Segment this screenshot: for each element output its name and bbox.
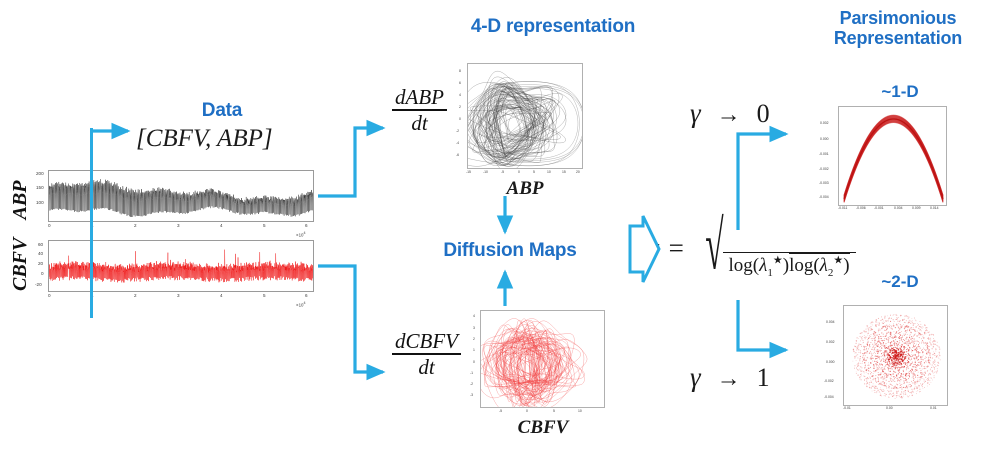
p1d-ytick-4: -0.002	[819, 168, 829, 171]
derivative-cbfv-label: dCBFV dt	[392, 330, 461, 379]
log-text-num: log	[729, 255, 753, 276]
cbfv-xtick-6: 6	[305, 294, 308, 299]
cbfvph-ytick-0: 0	[473, 361, 475, 364]
abp-phase-xlabel: ABP	[467, 178, 583, 200]
parsimonious-title-line1: Parsimonious	[818, 8, 978, 28]
p2d-ytick-3: 0.000	[826, 361, 835, 364]
panel-title-diffusion-maps: Diffusion Maps	[400, 240, 620, 261]
abpph-xtick-neg15: -15	[466, 171, 471, 174]
label-1d-text: ~1-D	[881, 82, 918, 101]
abp-xtick-5: 5	[263, 224, 266, 229]
arrow-one: →	[705, 366, 753, 392]
lambda-den-index: 2	[828, 267, 834, 279]
p1d-ytick-5: -0.003	[819, 182, 829, 185]
abpph-xtick-20: 20	[576, 171, 580, 174]
gamma-limit-zero: γ → 0	[690, 98, 770, 129]
abpph-xtick-15: 15	[562, 171, 566, 174]
abpph-ytick-0: 0	[459, 118, 461, 121]
radical-sign: √	[705, 211, 723, 280]
panel-title-data: Data	[162, 100, 282, 121]
abp-ytick-200: 200	[36, 172, 44, 177]
cbfv-ytick-40: 40	[38, 252, 43, 257]
arrow-to-2d-representation	[738, 300, 786, 350]
lambda-den-star: ★	[833, 255, 843, 267]
abpph-xtick-10: 10	[547, 171, 551, 174]
p1d-xtick-4: 0.004	[894, 207, 903, 210]
abpph-ytick-neg6: -6	[456, 154, 459, 157]
p2d-ytick-2: 0.002	[826, 341, 835, 344]
cbfvph-xtick-5: 5	[553, 410, 555, 413]
dcbfv-numerator: dCBFV	[392, 330, 461, 353]
p1d-ytick-2: 0.000	[820, 138, 829, 141]
gamma-symbol: γ	[648, 233, 659, 263]
dabp-numerator: dABP	[392, 86, 447, 109]
cbfv-ytick-0: 0	[41, 272, 44, 277]
dabp-denominator: dt	[392, 109, 447, 134]
panel-title-4d: 4-D representation	[418, 16, 688, 37]
abp-xtick-6: 6	[305, 224, 308, 229]
cbfv-ytick-neg20: -20	[35, 283, 42, 288]
p2d-xtick-1: -0.01	[843, 407, 851, 410]
p1d-xtick-6: 0.014	[930, 207, 939, 210]
abpph-ytick-neg2: -2	[456, 130, 459, 133]
label-2d-text: ~2-D	[881, 272, 918, 291]
abp-xtick-0: 0	[48, 224, 51, 229]
abp-timeseries-svg	[49, 171, 314, 222]
arrow-abp-to-derivative	[318, 128, 383, 196]
chart-parsimonious-1d	[838, 106, 947, 206]
cbfvph-xtick-10: 10	[578, 410, 582, 413]
abp-phase-svg	[468, 64, 583, 169]
abpph-xtick-neg5: -5	[501, 171, 504, 174]
log-numerator: log(λ1★)	[729, 255, 790, 276]
gamma-equation: γ = √log(λ1★)log(λ2★)	[648, 226, 856, 280]
sqrt-expression: √log(λ1★)log(λ2★)	[694, 226, 856, 280]
arrow-to-1d-representation	[738, 134, 786, 230]
gamma-symbol-zero: γ	[690, 98, 701, 128]
p2d-ytick-1: 0.004	[826, 321, 835, 324]
arrow-zero: →	[705, 102, 753, 128]
cbfv-x-exponent: ×104	[296, 301, 306, 307]
abpph-ytick-8: 8	[459, 70, 461, 73]
data-vector-text: [CBFV, ABP]	[136, 125, 273, 152]
cbfvph-ytick-1: 1	[473, 349, 475, 352]
p1d-xtick-2: -0.006	[856, 207, 866, 210]
derivative-abp-label: dABP dt	[392, 86, 447, 135]
abpph-ytick-neg4: -4	[456, 142, 459, 145]
p1d-xtick-1: -0.011	[838, 207, 847, 210]
limit-one-value: 1	[757, 363, 770, 392]
p2d-ytick-4: -0.002	[824, 380, 834, 383]
p2d-ytick-5: -0.004	[824, 396, 834, 399]
gamma-symbol-one: γ	[690, 362, 701, 392]
lambda-num-star: ★	[773, 255, 783, 267]
log-denominator: log(λ2★)	[789, 253, 850, 276]
cbfv-xtick-3: 3	[177, 294, 180, 299]
abp-x-exponent: ×104	[296, 231, 306, 237]
abp-ytick-100: 100	[36, 201, 44, 206]
abpph-xtick-0: 0	[518, 171, 520, 174]
abp-xtick-4: 4	[220, 224, 223, 229]
cbfv-ytick-20: 20	[38, 262, 43, 267]
abpph-xtick-5: 5	[533, 171, 535, 174]
cbfvph-ytick-3: 3	[473, 327, 475, 330]
cbfvph-xtick-neg5: -5	[499, 410, 502, 413]
cbfv-phase-svg	[481, 311, 605, 408]
equals-symbol: =	[663, 233, 690, 263]
parsimonious-title-line2: Representation	[818, 28, 978, 48]
chart-abp-timeseries	[48, 170, 314, 222]
log-text-den: log	[789, 255, 813, 276]
lambda-num-index: 1	[767, 267, 773, 279]
parsimonious-2d-svg	[844, 306, 948, 406]
cbfvph-ytick-neg1: -1	[470, 372, 473, 375]
diffusion-title-text: Diffusion Maps	[443, 240, 576, 261]
p2d-xtick-3: 0.01	[930, 407, 937, 410]
p1d-ytick-6: -0.004	[819, 196, 829, 199]
abp-ytick-150: 150	[36, 186, 44, 191]
abpph-ytick-2: 2	[459, 106, 461, 109]
cbfv-xtick-4: 4	[220, 294, 223, 299]
p1d-ytick-1: 0.002	[820, 122, 829, 125]
time-marker-line	[90, 128, 93, 318]
radicand: log(λ1★)log(λ2★)	[723, 252, 856, 280]
fourd-title-text: 4-D representation	[471, 16, 635, 37]
chart-cbfv-phase-portrait	[480, 310, 605, 408]
data-title-text: Data	[202, 100, 242, 121]
chart-cbfv-timeseries	[48, 240, 314, 292]
limit-zero-value: 0	[757, 99, 770, 128]
cbfvph-ytick-neg2: -2	[470, 383, 473, 386]
cbfv-xtick-5: 5	[263, 294, 266, 299]
figure-canvas: Data 4-D representation Diffusion Maps P…	[0, 0, 984, 454]
p1d-xtick-3: -0.001	[874, 207, 884, 210]
p2d-xtick-2: 0.00	[886, 407, 893, 410]
arrow-cbfv-to-derivative	[318, 266, 383, 372]
p1d-xtick-5: 0.009	[912, 207, 921, 210]
gamma-limit-one: γ → 1	[690, 362, 770, 393]
panel-title-parsimonious: Parsimonious Representation	[818, 8, 978, 48]
abpph-xtick-neg10: -10	[483, 171, 488, 174]
lambda-den: λ	[820, 255, 828, 276]
dcbfv-denominator: dt	[392, 353, 461, 378]
chart-parsimonious-2d	[843, 305, 948, 406]
cbfv-xtick-2: 2	[134, 294, 137, 299]
chart-abp-phase-portrait	[467, 63, 583, 169]
cbfv-xtick-0: 0	[48, 294, 51, 299]
label-1d: ~1-D	[830, 82, 970, 102]
abp-xtick-3: 3	[177, 224, 180, 229]
parsimonious-1d-svg	[839, 107, 947, 206]
p1d-ytick-3: -0.001	[819, 153, 829, 156]
abpph-ytick-4: 4	[459, 94, 461, 97]
cbfvph-ytick-neg3: -3	[470, 394, 473, 397]
abpph-ytick-6: 6	[459, 82, 461, 85]
cbfvph-xtick-0: 0	[526, 410, 528, 413]
data-vector-label: [CBFV, ABP]	[136, 125, 273, 153]
abp-xtick-2: 2	[134, 224, 137, 229]
cbfv-timeseries-svg	[49, 241, 314, 292]
cbfvph-ytick-4: 4	[473, 315, 475, 318]
cbfv-phase-xlabel-text: CBFV	[518, 417, 569, 438]
cbfv-ytick-60: 60	[38, 243, 43, 248]
cbfvph-ytick-2: 2	[473, 338, 475, 341]
cbfv-phase-xlabel: CBFV	[470, 417, 616, 439]
abp-phase-xlabel-text: ABP	[507, 178, 544, 199]
